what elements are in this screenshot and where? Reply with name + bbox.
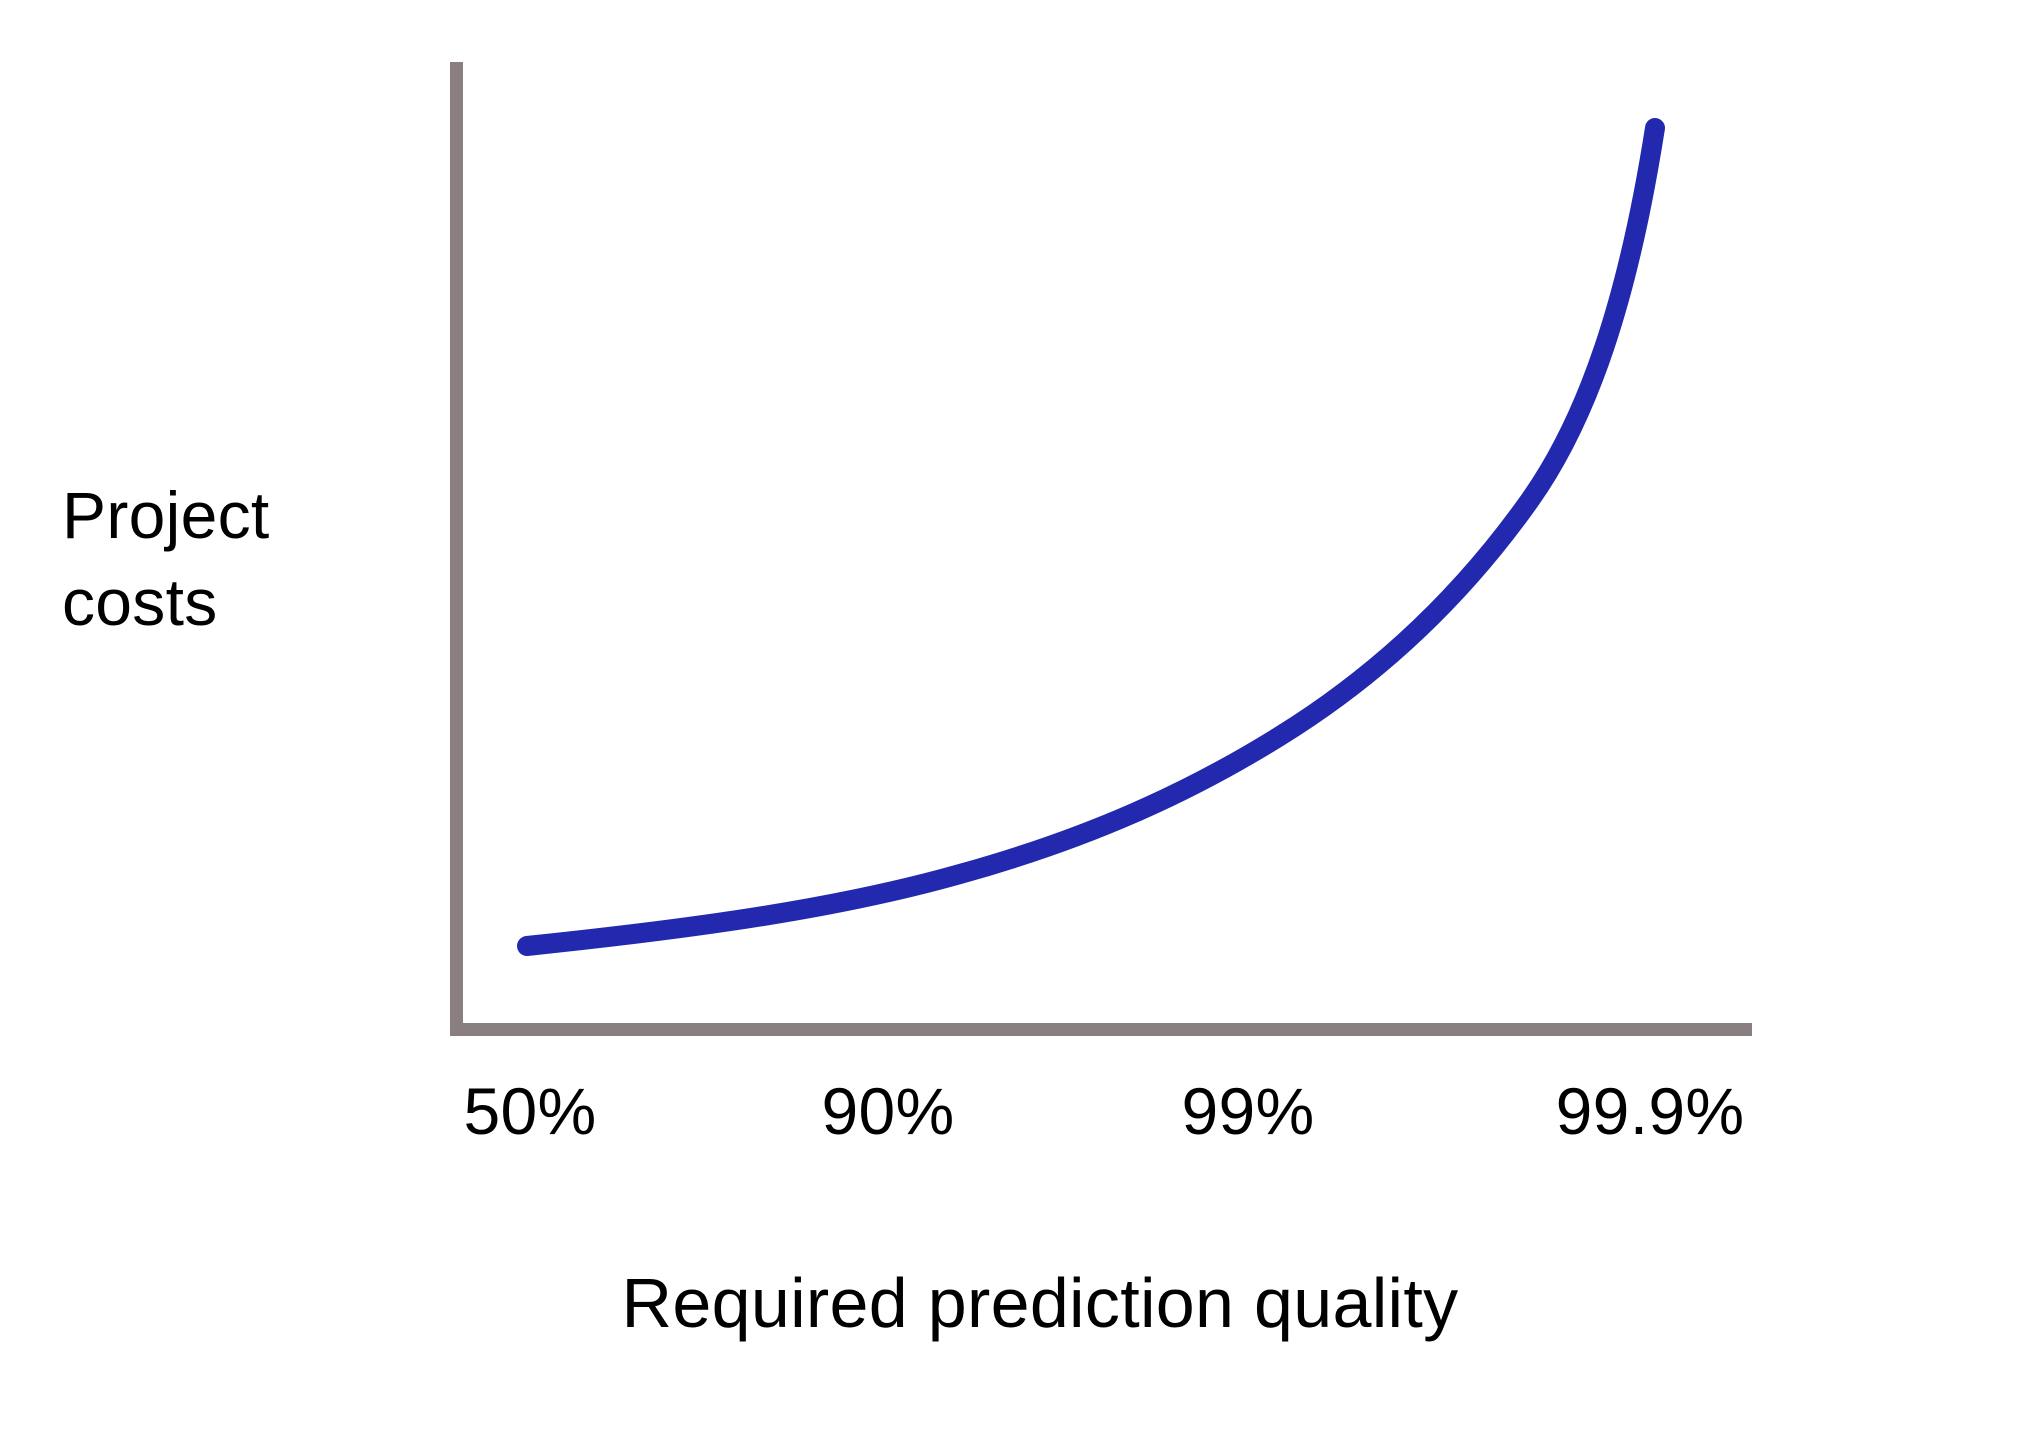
y-axis-label: Project costs <box>62 472 422 646</box>
cost-curve-line <box>527 128 1655 946</box>
chart-figure: Project costs 50% 90% 99% 99.9% Required… <box>0 0 2036 1444</box>
chart-plot-area <box>0 0 2036 1444</box>
x-tick-label-99-9: 99.9% <box>1556 1078 1745 1144</box>
x-tick-label-90: 90% <box>822 1078 955 1144</box>
x-axis-tick-labels: 50% 90% 99% 99.9% <box>0 1078 2036 1168</box>
x-tick-label-99: 99% <box>1182 1078 1315 1144</box>
x-tick-label-50: 50% <box>464 1078 597 1144</box>
y-axis-line <box>450 62 463 1036</box>
x-axis-title: Required prediction quality <box>0 1268 2036 1338</box>
x-axis-line <box>450 1023 1752 1036</box>
x-axis-title-text: Required prediction quality <box>622 1268 1459 1338</box>
